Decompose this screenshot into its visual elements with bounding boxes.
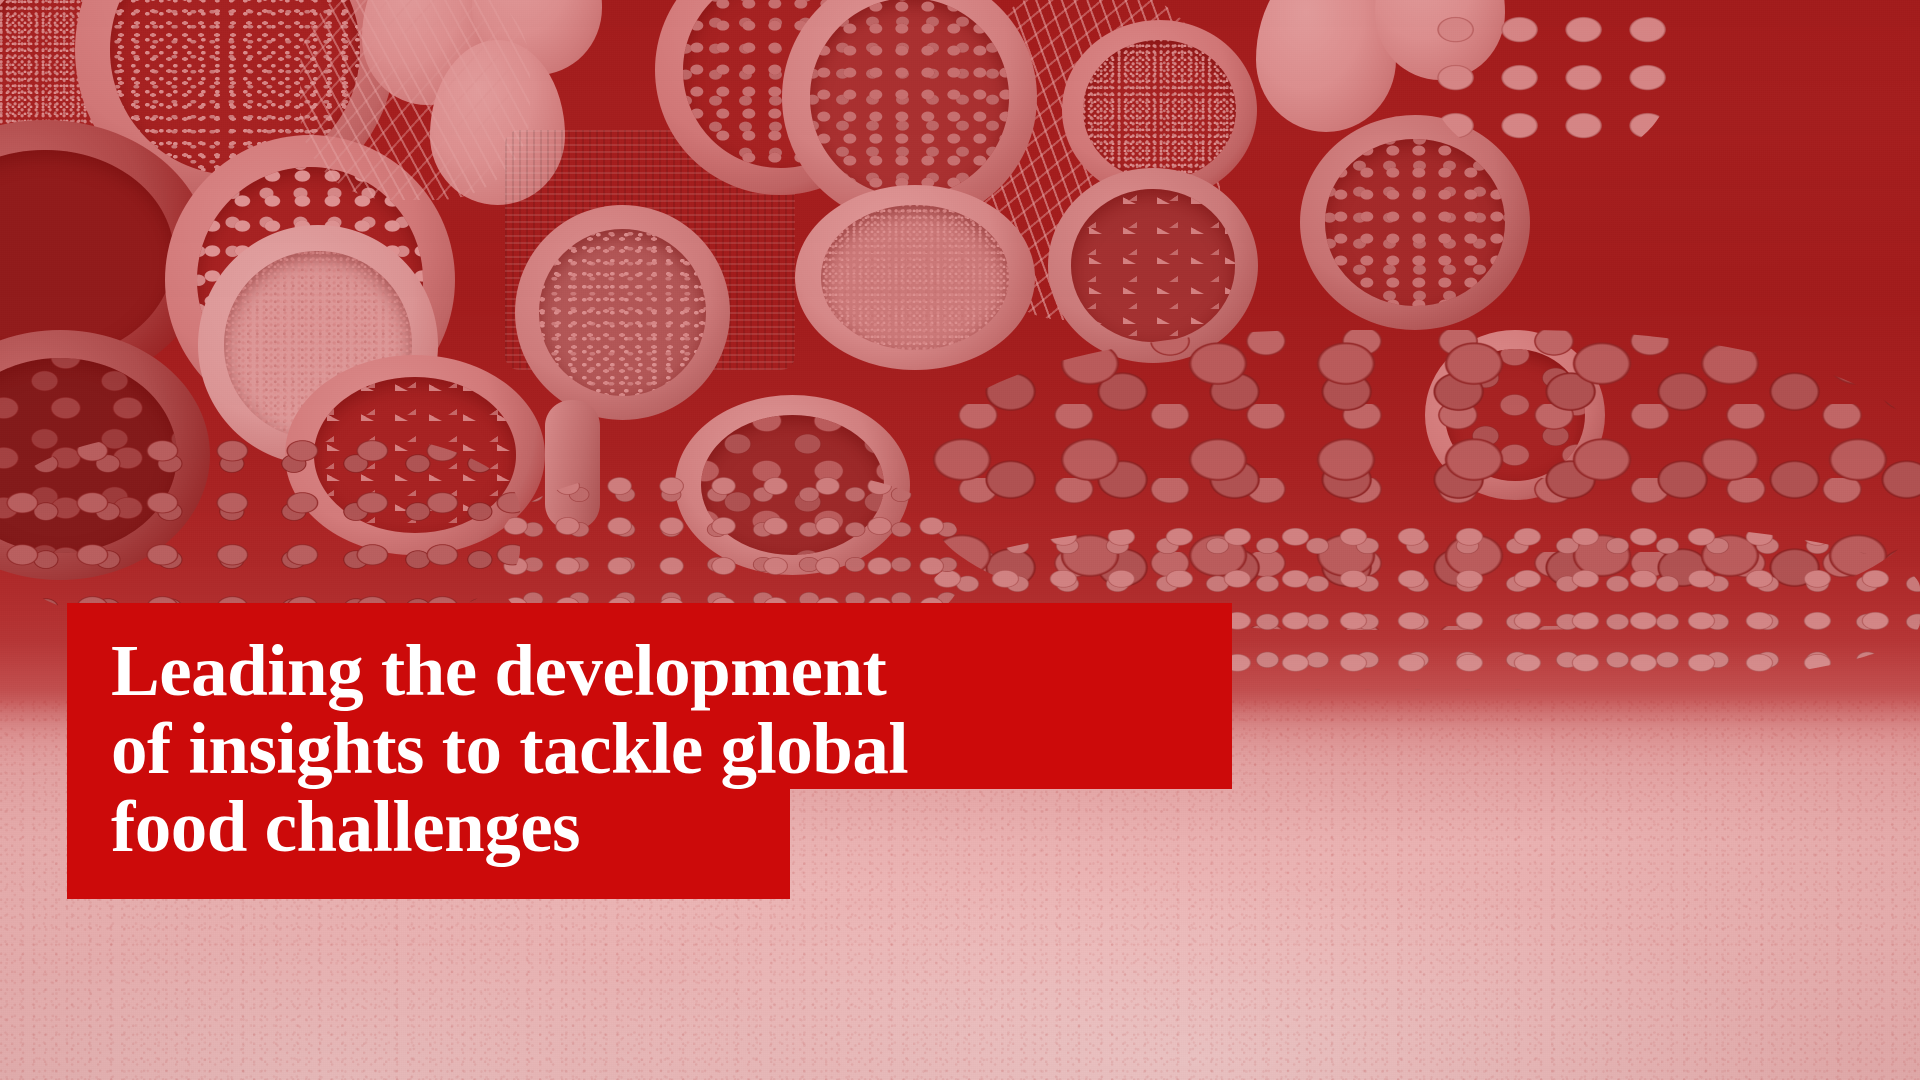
headline-line-2: of insights to tackle global: [67, 711, 1232, 789]
headline-band-2: of insights to tackle global: [67, 711, 1232, 789]
vignette: [0, 0, 1920, 1080]
headline-line-1: Leading the development: [67, 629, 1232, 711]
headline-band-3: food challenges: [67, 789, 790, 899]
headline-line-3: food challenges: [67, 789, 790, 865]
headline-banner: Leading the development of insights to t…: [67, 603, 1232, 899]
hero-stage: Leading the development of insights to t…: [0, 0, 1920, 1080]
headline-band-1: Leading the development: [67, 603, 1232, 711]
background-photo: [0, 0, 1920, 1080]
